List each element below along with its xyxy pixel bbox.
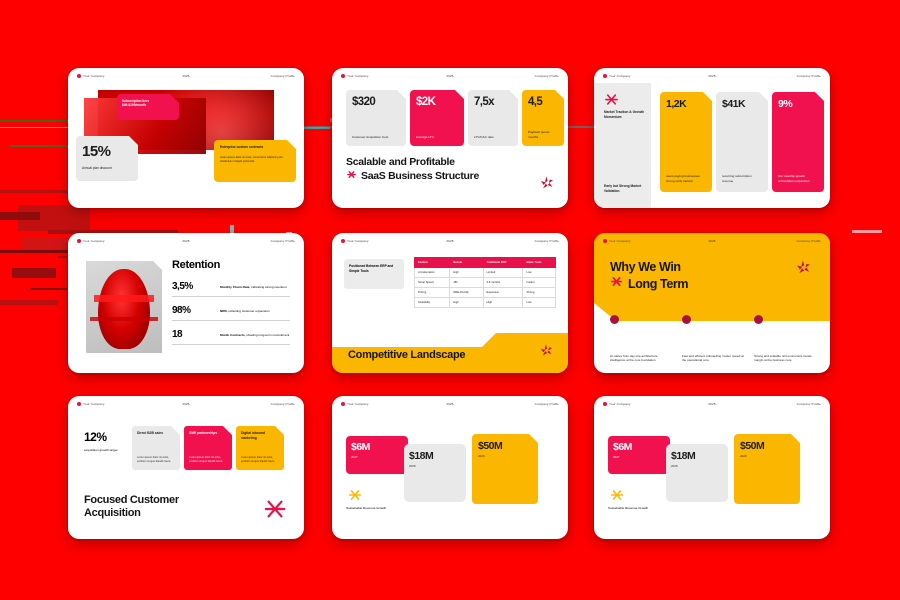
asterisk-icon (346, 169, 357, 184)
table-cell: Limited (483, 268, 523, 278)
revenue-caption: Sustainable Revenue Growth (608, 506, 662, 511)
table-row: Setup Speed 48h 3-6 months Instant (415, 278, 556, 288)
revenue-value: $18M (409, 450, 461, 462)
revenue-bar-2028[interactable]: $18M 2028 (404, 444, 466, 502)
retention-detail: indicating strong retention (250, 285, 286, 289)
win-point: Strong and scalable unit economics model… (754, 354, 816, 363)
slide-year: 2025 (68, 402, 304, 406)
bullet-dot-icon (610, 315, 619, 324)
revenue-year: 2028 (671, 464, 723, 468)
table-cell: Pricing (415, 288, 450, 298)
table-header-cell: Feature (415, 258, 450, 268)
slide-kicker: Company Profile (535, 74, 559, 78)
slide-year: 2025 (594, 74, 830, 78)
discount-value: 15% (82, 143, 132, 160)
table-cell: 3-6 months (483, 278, 523, 288)
table-row: AI Automation High Limited Low (415, 268, 556, 278)
channel-title: Digital inbound marketing (241, 431, 279, 440)
glitch-band (90, 317, 158, 321)
slide-year: 2025 (68, 239, 304, 243)
slide-market-traction[interactable]: Your Company 2025 Company Profile Market… (594, 68, 830, 208)
table-header-row: Feature Nexsia Traditional ERP Basic Too… (415, 258, 556, 268)
revenue-bar-2029[interactable]: $50M 2029 (472, 434, 538, 504)
slide-pricing[interactable]: Your Company 2025 Company Profile Subscr… (68, 68, 304, 208)
discount-label: Annual plan discount (82, 166, 132, 171)
column-label: recurring subscription revenue (722, 174, 762, 183)
metric-label: LTV/CAC ratio (474, 135, 513, 139)
slide-title: Why We Win Long Term (610, 259, 688, 293)
table-header-cell: Traditional ERP (483, 258, 523, 268)
asterisk-icon (348, 488, 362, 507)
portrait-subject (98, 269, 150, 349)
slide-saas-structure[interactable]: Your Company 2025 Company Profile $320 C… (332, 68, 568, 208)
slide-retention[interactable]: Your Company 2025 Company Profile Retent… (68, 233, 304, 373)
card-enterprise-contracts[interactable]: Enterprise custom contracts Lorem ipsum … (214, 140, 296, 182)
table-cell: SME-friendly (450, 288, 483, 298)
slide-kicker: Company Profile (797, 239, 821, 243)
positioning-callout: Positioned Between ERP and Simple Tools (344, 259, 404, 289)
glitch-artifact (0, 300, 58, 305)
revenue-bar-2029[interactable]: $50M 2029 (734, 434, 800, 504)
metric-value: 4,5 (528, 96, 558, 108)
column-value: 1,2K (666, 98, 706, 110)
table-cell: Strong (523, 288, 556, 298)
glitch-artifact (0, 212, 40, 220)
metric-card-ltv-cac-ratio[interactable]: 7,5x LTV/CAC ratio (468, 90, 518, 146)
win-point: Fast and efficient onboarding model, spe… (682, 354, 744, 363)
asterisk-icon (264, 498, 286, 525)
revenue-value: $50M (478, 440, 532, 452)
company-logo-mark (539, 175, 555, 196)
table-cell: 48h (450, 278, 483, 288)
slide-year: 2025 (594, 402, 830, 406)
channel-body: Lorem ipsum dolor sit amet, porttitor co… (241, 456, 279, 464)
channel-title: SME partnerships (189, 431, 227, 436)
card-annual-discount[interactable]: 15% Annual plan discount (76, 136, 138, 181)
asterisk-icon (604, 92, 619, 112)
metric-value: 7,5x (474, 96, 512, 108)
revenue-year: 2027 (351, 455, 403, 459)
slide-title: Retention (172, 259, 290, 271)
revenue-value: $50M (740, 440, 794, 452)
table-cell: Expensive (483, 288, 523, 298)
column-label: users paying businesses strong early tra… (666, 174, 706, 183)
side-panel-footnote: Early but Strong Market Validation (604, 184, 648, 194)
growth-target-label: acquisition growth target (84, 448, 124, 452)
slide-header: Your Company 2025 Company Profile (68, 396, 304, 411)
bullet-dot-icon (754, 315, 763, 324)
glitch-band (94, 295, 154, 302)
slide-year: 2025 (68, 74, 304, 78)
slide-kicker: Company Profile (271, 239, 295, 243)
title-band: Competitive Landscape (332, 333, 568, 373)
metric-card-cac[interactable]: $320 Customer Acquisition Cost (346, 90, 406, 146)
revenue-value: $6M (351, 441, 403, 453)
column-value: $41K (722, 98, 762, 110)
table-row: Scalability High High Low (415, 298, 556, 308)
traction-column-revenue[interactable]: $41K recurring subscription revenue (716, 92, 768, 192)
slide-kicker: Company Profile (271, 402, 295, 406)
channel-card-digital-inbound[interactable]: Digital inbound marketing Lorem ipsum do… (236, 426, 284, 470)
channel-body: Lorem ipsum dolor sit amet, porttitor co… (137, 456, 175, 464)
slide-header: Your Company 2025 Company Profile (332, 396, 568, 411)
retention-description: Monthly Churn Rate, indicating strong re… (220, 281, 287, 289)
retention-row: 98% NRR, reflecting customer expansion (172, 305, 290, 321)
slide-header: Your Company 2025 Company Profile (594, 396, 830, 411)
side-panel-heading: Market Traction & Growth Momentum (604, 110, 648, 120)
table-cell: Scalability (415, 298, 450, 308)
slide-year: 2025 (332, 239, 568, 243)
slide-header: Your Company 2025 Company Profile (332, 68, 568, 83)
channel-title: Direct B2B sales (137, 431, 175, 436)
retention-row: 3,5% Monthly Churn Rate, indicating stro… (172, 281, 290, 297)
slide-revenue-growth-a[interactable]: Your Company 2025 Company Profile $6M 20… (332, 396, 568, 539)
slide-header: Your Company 2025 Company Profile (68, 233, 304, 248)
table-header-cell: Nexsia (450, 258, 483, 268)
column-value: 9% (778, 98, 818, 110)
slide-kicker: Company Profile (797, 74, 821, 78)
slide-year: 2025 (332, 74, 568, 78)
portrait-image (86, 261, 162, 353)
metric-value: $2K (416, 96, 458, 108)
channel-card-sme-partnerships[interactable]: SME partnerships Lorem ipsum dolor sit a… (184, 426, 232, 470)
retention-value: 98% (172, 305, 220, 316)
slide-title-line2: Long Term (628, 276, 688, 292)
retention-description: NRR, reflecting customer expansion (220, 305, 270, 313)
channel-card-direct-sales[interactable]: Direct B2B sales Lorem ipsum dolor sit a… (132, 426, 180, 470)
slide-title-line2: SaaS Business Structure (361, 170, 479, 183)
table-cell: High (483, 298, 523, 308)
slide-title: Scalable and Profitable SaaS Business St… (346, 156, 479, 184)
enterprise-body: Lorem ipsum dolor sit amet, consectetur … (220, 156, 290, 164)
metric-card-ltv[interactable]: $2K Average LTV (410, 90, 464, 146)
revenue-year: 2028 (409, 464, 461, 468)
slide-title-line2: Acquisition (84, 507, 179, 521)
retention-description: Month Contracts, showing long-term commi… (220, 329, 289, 337)
slide-header: Your Company 2025 Company Profile (68, 68, 304, 83)
glitch-artifact (12, 268, 56, 278)
slide-revenue-growth-b[interactable]: Your Company 2025 Company Profile $6M 20… (594, 396, 830, 539)
revenue-caption: Sustainable Revenue Growth (346, 506, 400, 511)
slide-title-line1: Why We Win (610, 259, 688, 275)
company-logo-mark (539, 343, 554, 363)
retention-value: 18 (172, 329, 220, 340)
asterisk-icon (610, 488, 624, 507)
revenue-year: 2029 (740, 454, 794, 458)
revenue-bar-2027[interactable]: $6M 2027 (346, 436, 408, 474)
slide-header: Your Company 2025 Company Profile (594, 233, 830, 248)
table-cell: Instant (523, 278, 556, 288)
metric-card-payback[interactable]: 4,5 Payback period months (522, 90, 564, 146)
table-cell: Low (523, 268, 556, 278)
glitch-artifact (18, 205, 90, 231)
slide-header: Your Company 2025 Company Profile (332, 233, 568, 248)
presentation-preview-canvas: Your Company 2025 Company Profile Subscr… (0, 0, 900, 600)
metric-label: Payback period months (528, 130, 559, 139)
win-point: AI-native from day one architecture inte… (610, 354, 672, 363)
channel-body: Lorem ipsum dolor sit amet, porttitor co… (189, 456, 227, 464)
slide-title: Competitive Landscape (348, 349, 465, 361)
revenue-year: 2029 (478, 454, 532, 458)
asterisk-icon (610, 275, 623, 292)
revenue-year: 2027 (613, 455, 665, 459)
card-subscription-label: Subscription tiers $49-$299/month (122, 99, 174, 107)
table-cell: High (450, 268, 483, 278)
traction-column-growth[interactable]: 9% Our monthly growth subscription expan… (772, 92, 824, 192)
table-cell: Setup Speed (415, 278, 450, 288)
retention-term: Monthly Churn Rate, (220, 285, 250, 289)
slide-year: 2025 (332, 402, 568, 406)
revenue-bar-2027[interactable]: $6M 2027 (608, 436, 670, 474)
table-cell: High (450, 298, 483, 308)
metric-label: Customer Acquisition Cost (352, 135, 401, 139)
retention-value: 3,5% (172, 281, 220, 292)
traction-column-users[interactable]: 1,2K users paying businesses strong earl… (660, 92, 712, 192)
table-row: Pricing SME-friendly Expensive Strong (415, 288, 556, 298)
growth-target-value: 12% (84, 430, 107, 444)
slide-why-we-win[interactable]: Your Company 2025 Company Profile Why We… (594, 233, 830, 373)
table-cell: AI Automation (415, 268, 450, 278)
column-label: Our monthly growth subscription expansio… (778, 174, 818, 183)
slide-title-line1: Focused Customer (84, 494, 179, 508)
slide-customer-acquisition[interactable]: Your Company 2025 Company Profile 12% ac… (68, 396, 304, 539)
revenue-value: $18M (671, 450, 723, 462)
table-cell: Low (523, 298, 556, 308)
slide-title: Focused Customer Acquisition (84, 494, 179, 522)
slide-header: Your Company 2025 Company Profile (594, 68, 830, 83)
retention-row: 18 Month Contracts, showing long-term co… (172, 329, 290, 345)
retention-term: NRR, (220, 309, 228, 313)
retention-detail: showing long-term commitment (245, 333, 289, 337)
slide-kicker: Company Profile (271, 74, 295, 78)
slide-year: 2025 (594, 239, 830, 243)
metric-label: Average LTV (416, 135, 459, 139)
slide-kicker: Company Profile (535, 402, 559, 406)
enterprise-title: Enterprise custom contracts (220, 145, 290, 149)
revenue-value: $6M (613, 441, 665, 453)
comparison-table: Feature Nexsia Traditional ERP Basic Too… (414, 257, 556, 308)
table-header-cell: Basic Tools (523, 258, 556, 268)
slide-kicker: Company Profile (535, 239, 559, 243)
card-subscription-tiers[interactable]: Subscription tiers $49-$299/month (117, 94, 179, 120)
metric-value: $320 (352, 96, 400, 108)
retention-term: Month Contracts, (220, 333, 245, 337)
glitch-artifact (852, 230, 882, 233)
slide-title-line1: Scalable and Profitable (346, 156, 479, 169)
slide-kicker: Company Profile (797, 402, 821, 406)
company-logo-mark (795, 259, 812, 281)
revenue-bar-2028[interactable]: $18M 2028 (666, 444, 728, 502)
bullet-dot-icon (682, 315, 691, 324)
slide-competitive-landscape[interactable]: Your Company 2025 Company Profile Positi… (332, 233, 568, 373)
retention-detail: reflecting customer expansion (228, 309, 270, 313)
